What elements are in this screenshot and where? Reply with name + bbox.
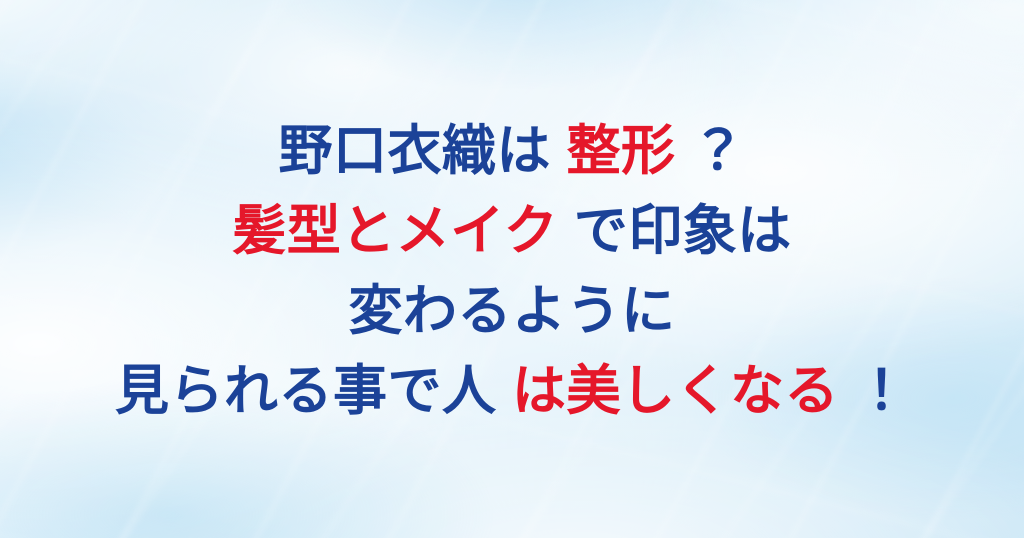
headline-line-2-segment-2: で印象は xyxy=(574,201,792,261)
headline-line-3: 変わるように xyxy=(349,271,676,351)
headline-line-2: 髪型とメイク で印象は xyxy=(232,191,791,271)
headline-line-2-segment-1: 髪型とメイク xyxy=(232,201,558,261)
headline-line-1: 野口衣織は 整形 ？ xyxy=(278,111,745,191)
headline-line-1-segment-3: ？ xyxy=(691,121,746,181)
headline-line-4-segment-2: は美しくなる xyxy=(512,361,839,421)
headline-text-block: 野口衣織は 整形 ？ 髪型とメイク で印象は 変わるように 見られる事で人 は美… xyxy=(0,0,1024,538)
headline-line-4: 見られる事で人 は美しくなる ！ xyxy=(115,351,909,431)
headline-line-3-segment-1: 変わるように xyxy=(349,281,676,341)
headline-line-4-segment-3: ！ xyxy=(855,361,910,421)
headline-line-1-segment-1: 野口衣織は xyxy=(278,121,551,181)
headline-line-4-segment-1: 見られる事で人 xyxy=(115,361,497,421)
headline-line-1-segment-2: 整形 xyxy=(567,121,676,181)
article-thumbnail-banner: 野口衣織は 整形 ？ 髪型とメイク で印象は 変わるように 見られる事で人 は美… xyxy=(0,0,1024,538)
